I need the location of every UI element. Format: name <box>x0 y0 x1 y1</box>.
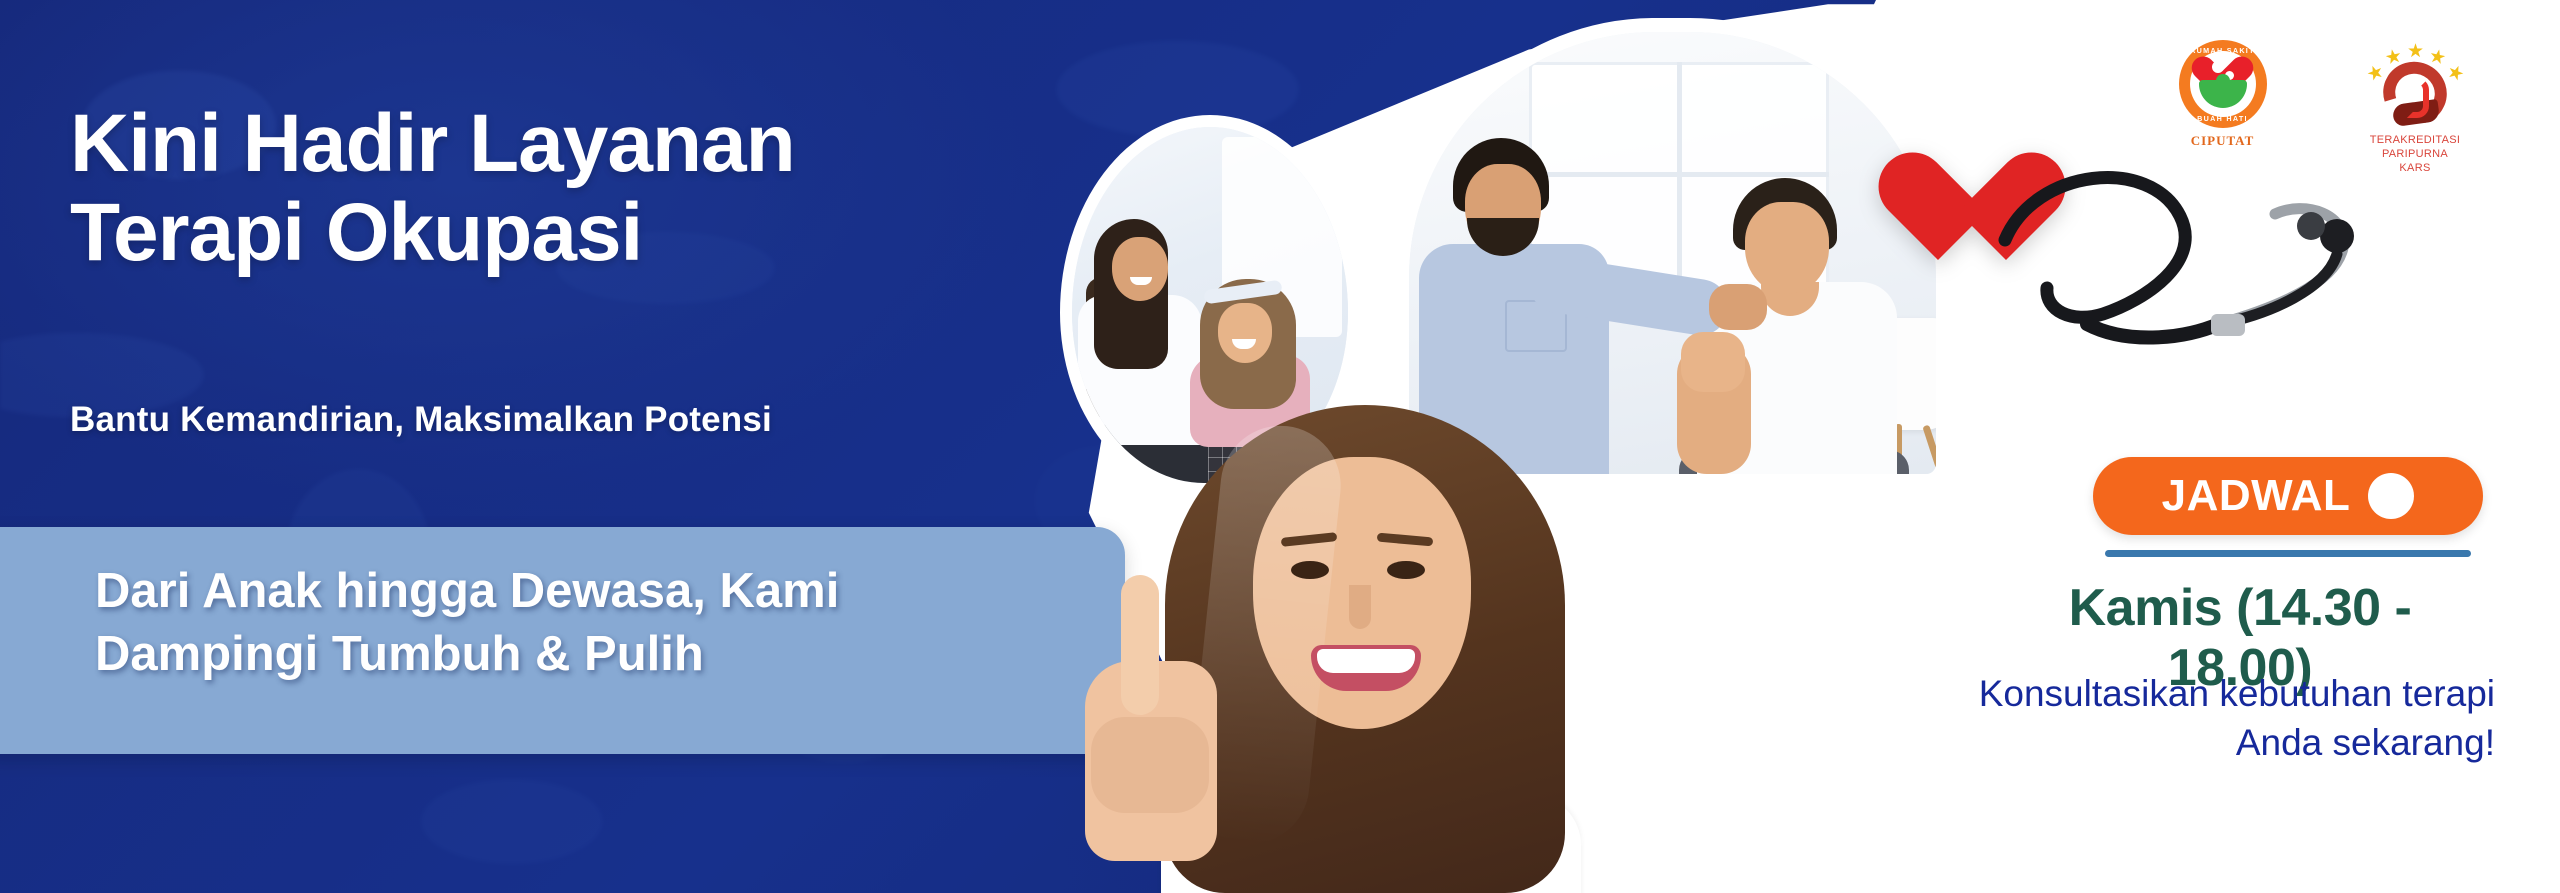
logo-group: RUMAH SAKIT BUAH HATI CIPUTAT ★ ★ ★ ★ ★ … <box>2165 40 2490 175</box>
schedule-divider <box>2105 550 2471 557</box>
kars-caption: TERAKREDITASI PARIPURNA KARS <box>2340 134 2490 175</box>
page-title: Kini Hadir Layanan Terapi Okupasi <box>70 100 1090 277</box>
headline-line-2: Terapi Okupasi <box>70 189 1090 278</box>
promo-line-1: Dari Anak hingga Dewasa, Kami <box>95 560 1105 623</box>
promo-line-2: Dampingi Tumbuh & Pulih <box>95 623 1105 686</box>
logo-kars-accreditation: ★ ★ ★ ★ ★ TERAKREDITASI PARIPURNA KARS <box>2340 40 2490 175</box>
schedule-note-line-1: Konsultasikan kebutuhan terapi <box>1935 670 2495 719</box>
photo-doctor-pointing <box>1105 395 1725 893</box>
jadwal-label: JADWAL <box>2162 471 2351 521</box>
kars-logo-icon: ★ ★ ★ ★ ★ <box>2365 40 2465 128</box>
jadwal-dot-icon <box>2368 473 2414 519</box>
subheadline: Bantu Kemandirian, Maksimalkan Potensi <box>70 400 772 440</box>
headline-line-1: Kini Hadir Layanan <box>70 98 795 189</box>
logo-rumah-sakit-buah-hati: RUMAH SAKIT BUAH HATI CIPUTAT <box>2165 40 2280 149</box>
jadwal-badge[interactable]: JADWAL <box>2093 457 2483 535</box>
promo-banner: Kini Hadir Layanan Terapi Okupasi Bantu … <box>0 0 2560 893</box>
logo-arc-bottom-text: BUAH HATI <box>2179 114 2267 123</box>
schedule-note-line-2: Anda sekarang! <box>1935 719 2495 768</box>
kars-caption-line-2: KARS <box>2340 162 2490 176</box>
logo-arc-top-text: RUMAH SAKIT <box>2179 46 2267 55</box>
kars-caption-line-1: TERAKREDITASI PARIPURNA <box>2340 134 2490 162</box>
hospital-logo-icon: RUMAH SAKIT BUAH HATI <box>2179 40 2267 128</box>
logo-caption-ciputat: CIPUTAT <box>2165 133 2280 149</box>
schedule-note: Konsultasikan kebutuhan terapi Anda seka… <box>1935 670 2495 768</box>
promo-message: Dari Anak hingga Dewasa, Kami Dampingi T… <box>95 560 1105 685</box>
